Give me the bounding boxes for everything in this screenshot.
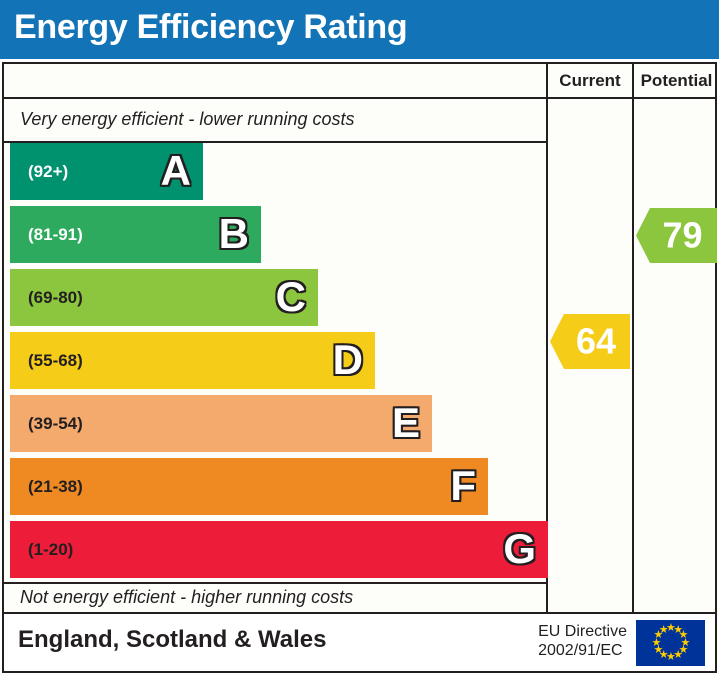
band-g: (1-20) G bbox=[10, 521, 548, 578]
caption-not-efficient: Not energy efficient - higher running co… bbox=[20, 587, 353, 608]
band-c: (69-80) C bbox=[10, 269, 318, 326]
chart-footer: England, Scotland & Wales EU Directive 2… bbox=[2, 614, 717, 673]
column-header-row: Current Potential bbox=[4, 64, 715, 99]
band-d: (55-68) D bbox=[10, 332, 375, 389]
band-list: (92+) A (81-91) B (69-80) C (55-68) D (3… bbox=[4, 143, 546, 582]
band-f: (21-38) F bbox=[10, 458, 488, 515]
column-divider-potential bbox=[632, 99, 634, 612]
caption-rule-bottom bbox=[4, 582, 546, 584]
current-rating-marker: 64 bbox=[550, 314, 630, 369]
band-letter-e: E bbox=[392, 402, 420, 444]
band-letter-b: B bbox=[219, 213, 249, 255]
band-letter-f: F bbox=[450, 465, 476, 507]
footer-directive: EU Directive 2002/91/EC bbox=[538, 622, 627, 660]
band-e: (39-54) E bbox=[10, 395, 432, 452]
chart-header-bar: Energy Efficiency Rating bbox=[0, 0, 719, 59]
rating-table: Current Potential Very energy efficient … bbox=[2, 62, 717, 614]
eu-flag-star: ★ bbox=[659, 626, 668, 635]
band-letter-g: G bbox=[503, 528, 536, 570]
band-letter-c: C bbox=[276, 276, 306, 318]
band-b: (81-91) B bbox=[10, 206, 261, 263]
band-a: (92+) A bbox=[10, 143, 203, 200]
column-header-current: Current bbox=[546, 64, 632, 97]
eu-flag-icon: ★★★★★★★★★★★★ bbox=[636, 620, 705, 666]
band-range-f: (21-38) bbox=[28, 477, 83, 497]
column-header-potential: Potential bbox=[632, 64, 719, 97]
potential-rating-value: 79 bbox=[636, 217, 717, 253]
page-title: Energy Efficiency Rating bbox=[14, 8, 407, 47]
band-letter-a: A bbox=[161, 150, 191, 192]
band-range-g: (1-20) bbox=[28, 540, 73, 560]
footer-directive-line2: 2002/91/EC bbox=[538, 641, 627, 660]
caption-very-efficient: Very energy efficient - lower running co… bbox=[20, 109, 355, 130]
current-rating-value: 64 bbox=[550, 323, 630, 359]
band-range-e: (39-54) bbox=[28, 414, 83, 434]
footer-region-label: England, Scotland & Wales bbox=[18, 626, 326, 654]
potential-rating-marker: 79 bbox=[636, 208, 717, 263]
footer-directive-line1: EU Directive bbox=[538, 622, 627, 641]
band-range-c: (69-80) bbox=[28, 288, 83, 308]
band-range-b: (81-91) bbox=[28, 225, 83, 245]
band-range-d: (55-68) bbox=[28, 351, 83, 371]
band-range-a: (92+) bbox=[28, 162, 68, 182]
energy-efficiency-rating-chart: Energy Efficiency Rating Current Potenti… bbox=[0, 0, 719, 675]
band-letter-d: D bbox=[333, 339, 363, 381]
